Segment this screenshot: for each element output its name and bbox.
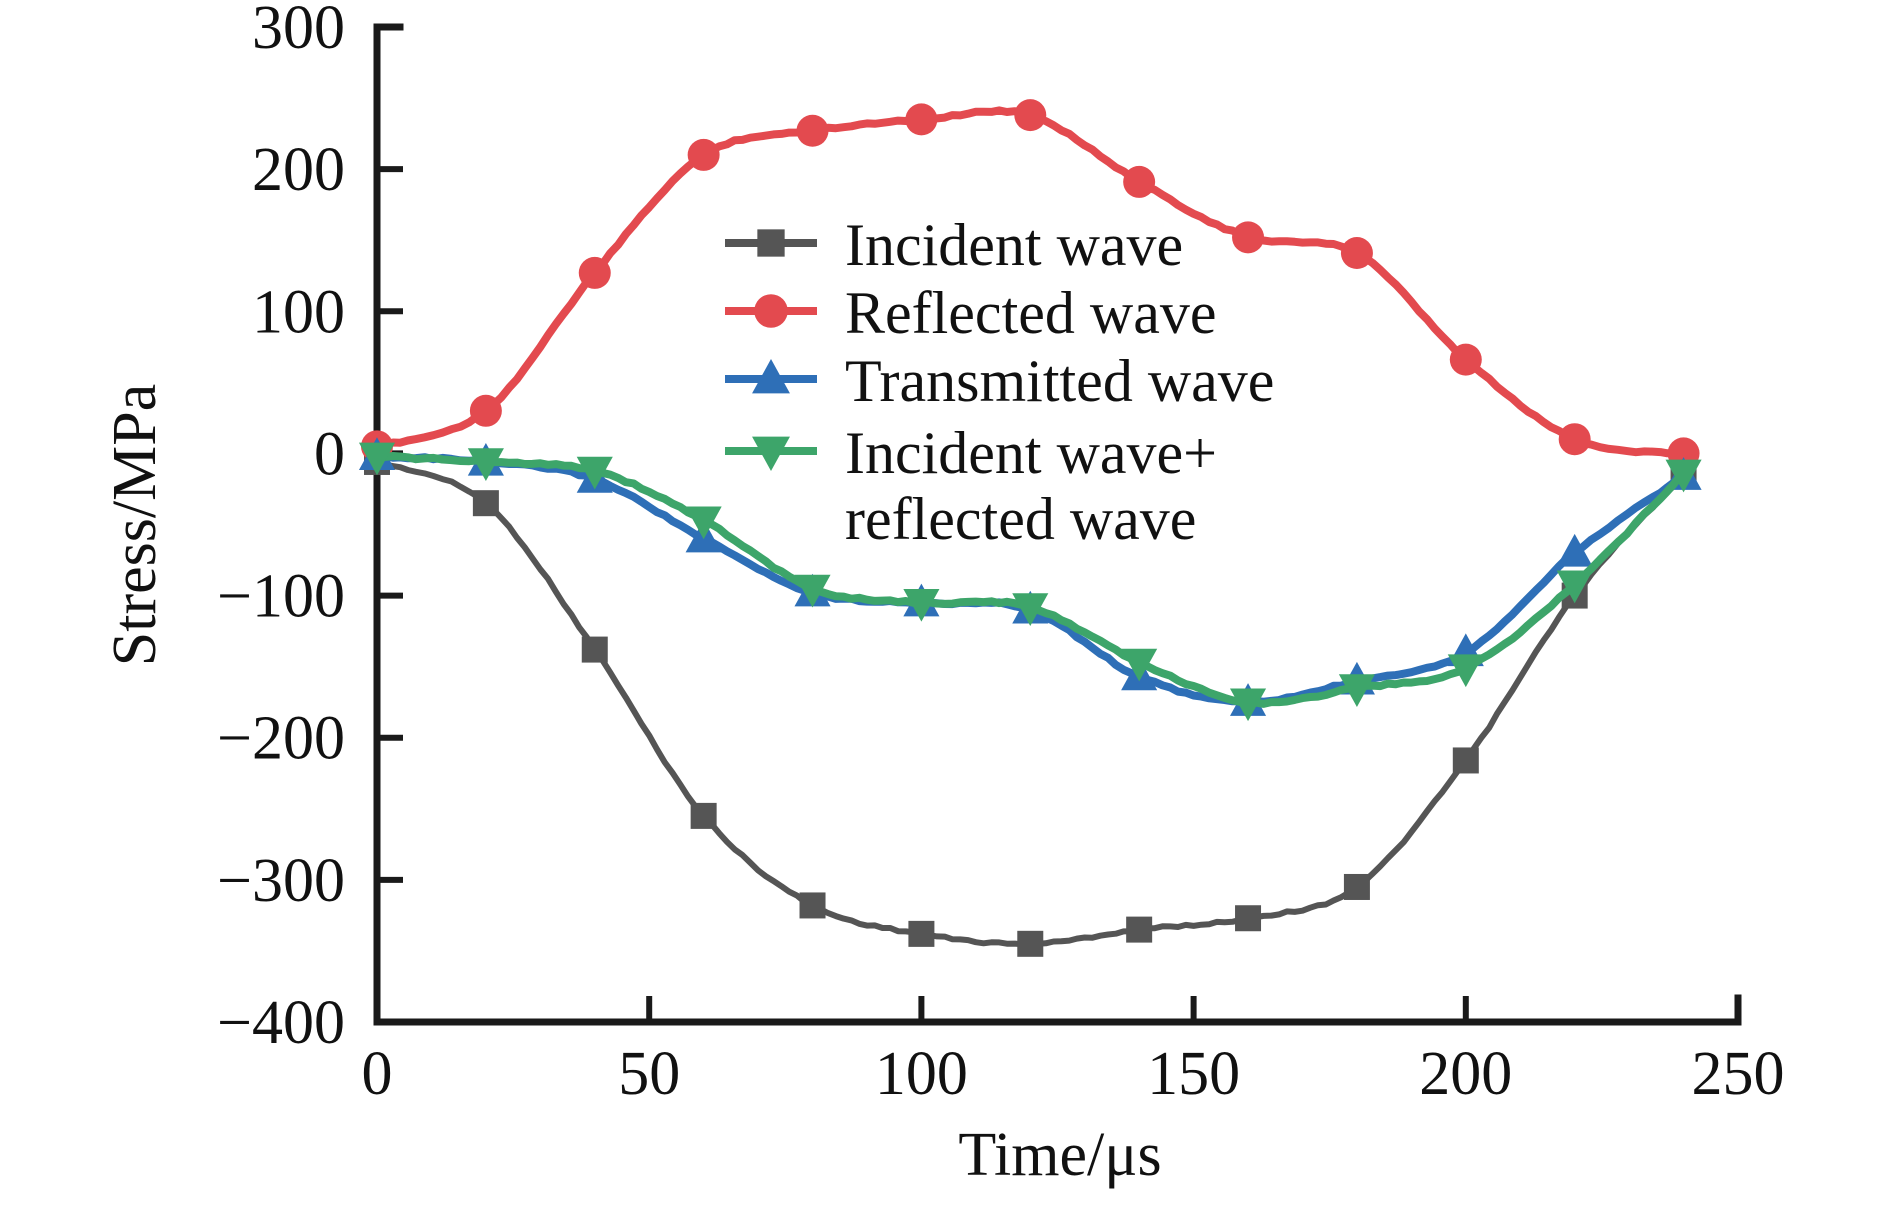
y-tick-label: −100 [217, 563, 345, 631]
data-point-marker [1341, 237, 1373, 269]
x-tick-label: 200 [1419, 1040, 1512, 1108]
data-point-marker [905, 103, 937, 135]
data-point-marker [473, 490, 499, 516]
data-point-marker [1344, 874, 1370, 900]
data-point-marker [754, 294, 788, 328]
data-point-marker [1559, 423, 1591, 455]
y-tick-label: −300 [217, 847, 345, 915]
y-axis-tick-labels: 3002001000−100−200−300−400 [217, 0, 345, 1057]
legend-label: Transmitted wave [845, 348, 1274, 414]
chart-canvas: 3002001000−100−200−300−400 0501001502002… [0, 0, 1890, 1208]
x-tick-label: 100 [875, 1040, 968, 1108]
data-point-marker [470, 395, 502, 427]
legend-item-reflected-wave[interactable]: Reflected wave [725, 280, 1216, 346]
x-tick-label: 0 [362, 1040, 393, 1108]
y-tick-label: 100 [252, 278, 345, 346]
data-point-marker [797, 115, 829, 147]
data-point-marker [1235, 905, 1261, 931]
x-axis-title: Time/μs [958, 1121, 1161, 1189]
legend: Incident waveReflected waveTransmitted w… [725, 212, 1274, 552]
legend-item-incident-wave[interactable]: Incident wave [725, 212, 1183, 278]
y-tick-label: −200 [217, 705, 345, 773]
data-point-marker [1123, 166, 1155, 198]
data-point-marker [688, 139, 720, 171]
data-point-marker [800, 892, 826, 918]
data-point-marker [1453, 747, 1479, 773]
x-axis-ticks [649, 996, 1466, 1022]
x-axis-tick-labels: 050100150200250 [362, 1040, 1785, 1108]
data-point-marker [908, 921, 934, 947]
stress-time-chart: 3002001000−100−200−300−400 0501001502002… [0, 0, 1890, 1208]
data-point-marker [579, 257, 611, 289]
y-axis-title: Stress/MPa [101, 384, 169, 666]
legend-label: Reflected wave [845, 280, 1216, 346]
legend-label-line2: reflected wave [845, 486, 1196, 552]
data-point-marker [582, 637, 608, 663]
legend-label: Incident wave+ [845, 420, 1217, 486]
x-tick-label: 250 [1692, 1040, 1785, 1108]
legend-item-incident-wave[interactable]: Incident wave+reflected wave [725, 420, 1217, 552]
data-point-marker [1017, 931, 1043, 957]
y-axis-ticks [377, 169, 403, 880]
data-point-marker [1126, 917, 1152, 943]
y-tick-label: 0 [314, 420, 345, 488]
data-point-marker [1014, 99, 1046, 131]
y-tick-label: 300 [252, 0, 345, 62]
data-point-marker [757, 229, 784, 256]
legend-item-transmitted-wave[interactable]: Transmitted wave [725, 348, 1274, 414]
x-tick-label: 150 [1147, 1040, 1240, 1108]
data-point-marker [1232, 221, 1264, 253]
data-point-marker [1450, 344, 1482, 376]
data-point-marker [691, 803, 717, 829]
legend-label: Incident wave [845, 212, 1183, 278]
y-tick-label: 200 [252, 136, 345, 204]
x-tick-label: 50 [618, 1040, 680, 1108]
y-tick-label: −400 [217, 989, 345, 1057]
